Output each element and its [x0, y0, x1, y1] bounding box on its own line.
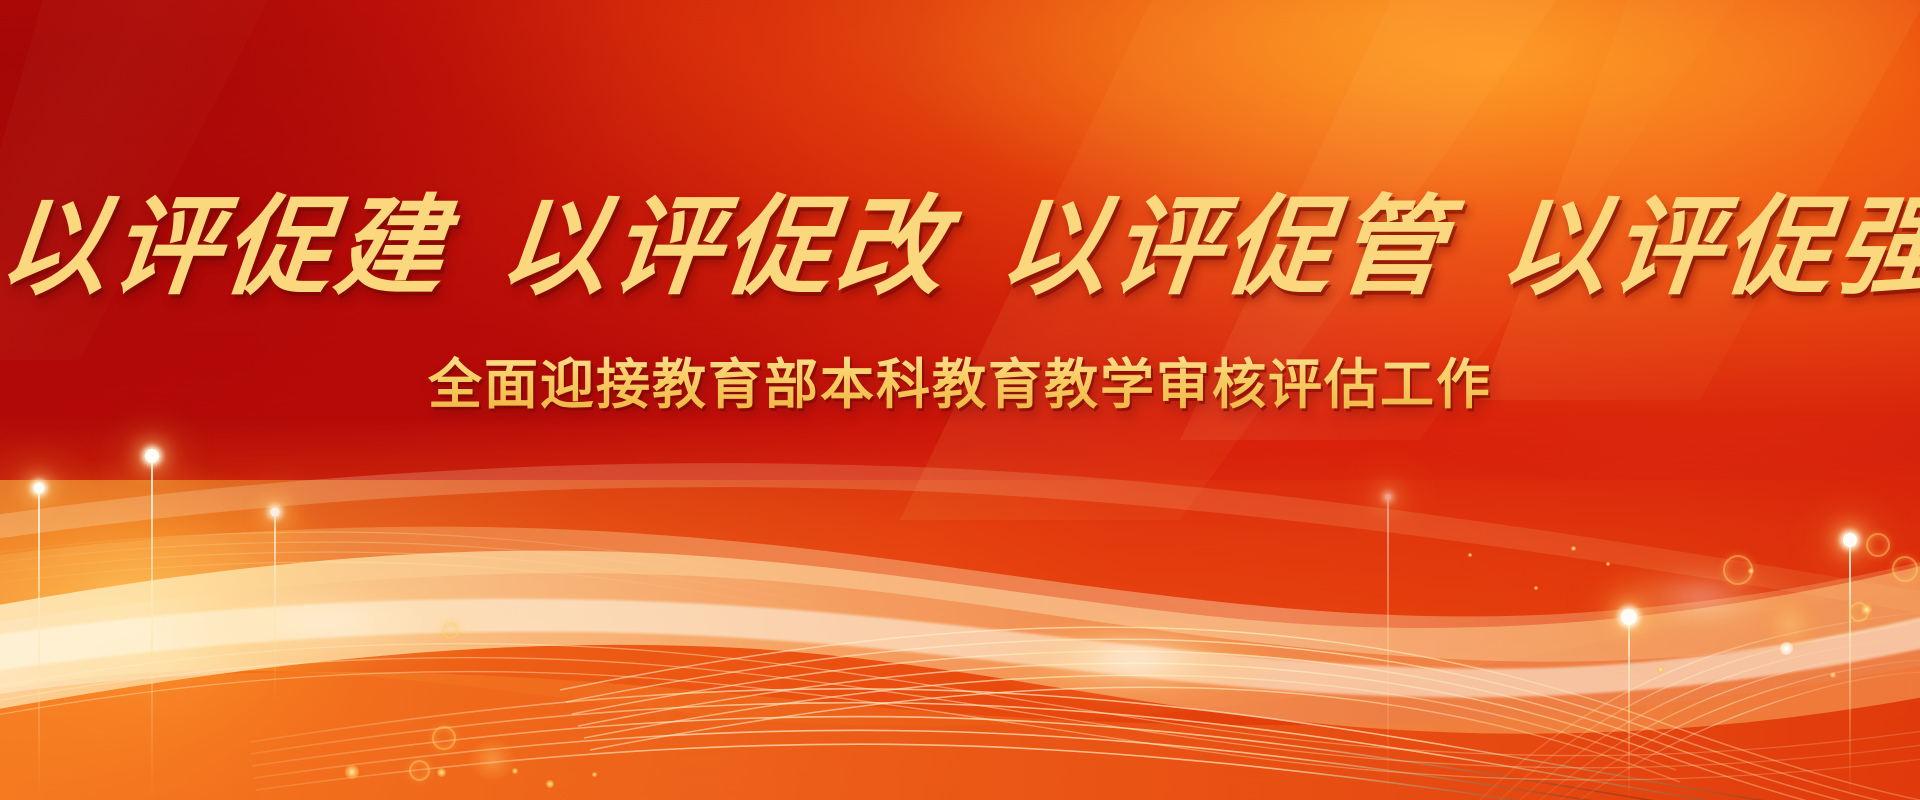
light-pole-stem: [38, 488, 40, 800]
light-pole-5: [1628, 617, 1630, 800]
light-pole-stem: [274, 512, 276, 702]
light-pole-stem: [1387, 497, 1389, 800]
light-pole-bulb: [1621, 609, 1637, 625]
main-title-group-1: 以评促建: [0, 192, 454, 305]
light-pole-6: [1849, 540, 1851, 800]
main-title-group-2: 以评促改: [494, 192, 954, 305]
light-pole-stem: [1849, 540, 1851, 800]
light-pole-bulb: [1385, 494, 1391, 500]
light-pole-3: [274, 512, 276, 702]
light-pole-stem: [1628, 617, 1630, 800]
light-pole-1: [38, 488, 40, 800]
light-pole-bulb: [145, 449, 159, 463]
light-pole-bulb: [1843, 533, 1857, 547]
light-pole-stem: [151, 456, 153, 800]
light-pole-4: [1387, 497, 1389, 800]
subtitle: 全面迎接教育部本科教育教学审核评估工作: [0, 340, 1920, 419]
main-title-group-4: 以评促强: [1494, 192, 1920, 305]
banner-root: 以评促建以评促改以评促管以评促强 全面迎接教育部本科教育教学审核评估工作: [0, 0, 1920, 800]
main-title: 以评促建以评促改以评促管以评促强: [0, 192, 1920, 305]
main-title-group-3: 以评促管: [994, 192, 1454, 305]
light-pole-2: [151, 456, 153, 800]
light-pole-bulb: [271, 508, 280, 517]
light-pole-bulb: [34, 483, 45, 494]
